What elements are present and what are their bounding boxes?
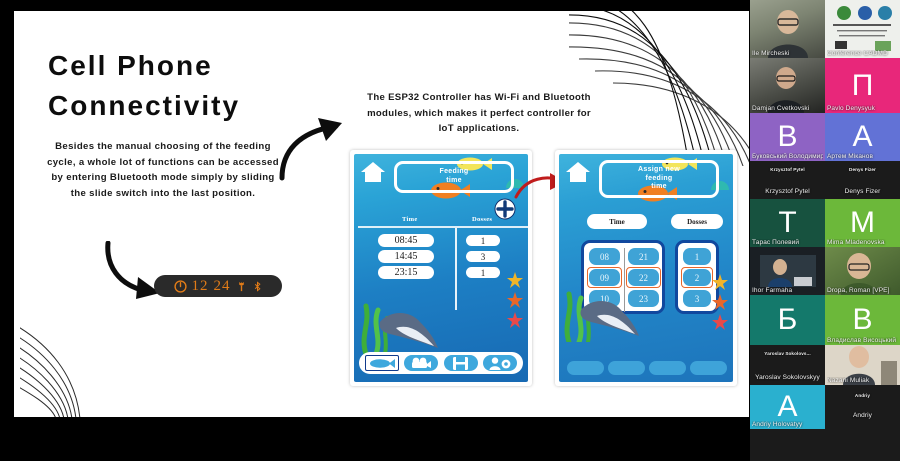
power-icon <box>174 280 187 293</box>
dose-entry-row[interactable]: 1 <box>466 267 500 278</box>
dose-option[interactable]: 3 <box>683 290 711 307</box>
participant-name: Andriy <box>825 412 900 419</box>
app-title-line-3: time <box>651 183 667 190</box>
participant-tile[interactable]: В Владислав Висоцький <box>825 295 900 345</box>
bottom-toolbar-placeholder <box>567 361 727 375</box>
app-title-bar: Assign new feeding time <box>599 160 719 198</box>
participant-tile[interactable]: Nazarii Muliak <box>825 345 900 385</box>
participant-row: Т Тарас Полевий M Mima Mladenovska <box>750 199 900 247</box>
app-screen-assign-time: Assign new feeding time Time Dosses 08 0… <box>559 154 733 382</box>
participant-name-overlay: Krzysztof Pytel <box>750 167 825 172</box>
participant-name: Yaroslav Sokolovskyy <box>750 374 825 381</box>
minute-option[interactable]: 21 <box>628 248 659 265</box>
participant-tile[interactable]: Ihor Farmaha <box>750 247 825 295</box>
participant-row: Yaroslav Sokolovs... Yaroslav Sokolovsky… <box>750 345 900 385</box>
app-title-line-1: Assign new <box>638 166 680 173</box>
user-settings-icon[interactable] <box>483 355 517 371</box>
participant-row: Б В Владислав Висоцький <box>750 295 900 345</box>
participant-tile[interactable]: Dropa, Roman [VPE] <box>825 247 900 295</box>
participant-tile[interactable]: Andriy Andriy <box>825 385 900 429</box>
participant-name: Krzysztof Pytel <box>750 188 825 195</box>
horizontal-divider <box>358 226 528 228</box>
app-title-line-2: time <box>446 177 462 184</box>
switch-label-12: 12 <box>192 278 209 295</box>
participant-tile[interactable]: А Артем Міканов <box>825 113 900 161</box>
time-entry-row[interactable]: 08:45 <box>378 234 434 247</box>
participant-name-overlay: Yaroslav Sokolovs... <box>750 351 825 356</box>
participant-name: Буковський Володимир <box>752 153 823 160</box>
participant-row: Damjan Cvetkovski П Pavlo Denysyuk <box>750 58 900 113</box>
toolbar-slot[interactable] <box>690 361 727 375</box>
slide-switch-graphic: 12 24 <box>154 275 282 297</box>
participant-row: A Andriy Holovatyy Andriy Andriy <box>750 385 900 429</box>
participant-tile[interactable]: A Andriy Holovatyy <box>750 385 825 429</box>
column-header-doses: Dosses <box>472 216 492 223</box>
tab-time[interactable]: Time <box>587 214 647 229</box>
participant-tile[interactable]: В Буковський Володимир <box>750 113 825 161</box>
participant-tile[interactable]: Б <box>750 295 825 345</box>
dose-selection-highlight <box>681 267 713 288</box>
participant-tile[interactable]: Yaroslav Sokolovs... Yaroslav Sokolovsky… <box>750 345 825 385</box>
home-icon[interactable] <box>360 160 386 184</box>
participant-name: Denys Fizer <box>825 188 900 195</box>
avatar-initial: Б <box>750 295 825 345</box>
app-title-bar: Feedingtime <box>394 161 514 193</box>
participant-tile[interactable]: M Mima Mladenovska <box>825 199 900 247</box>
participant-name: Ihor Farmaha <box>752 287 823 294</box>
starfish-icon <box>711 274 729 330</box>
phone-mockup-feeding-time: Feedingtime Time Dosses 08:45 14:45 23:1… <box>350 150 532 386</box>
participant-tile[interactable]: П Pavlo Denysyuk <box>825 58 900 113</box>
vertical-divider <box>455 228 457 310</box>
participant-tile[interactable]: Conference CADMD <box>825 0 900 58</box>
page-title: Cell Phone Connectivity <box>48 46 348 126</box>
participant-tile[interactable]: Damjan Cvetkovski <box>750 58 825 113</box>
participant-row: В Буковський Володимир А Артем Міканов <box>750 113 900 161</box>
participant-rail: Ile Mircheski Conference CADMD Damj <box>750 0 900 461</box>
participant-name: Andriy Holovatyy <box>752 421 823 428</box>
decorative-curves-icon <box>569 11 749 166</box>
hour-option[interactable]: 08 <box>589 248 620 265</box>
starfish-icon <box>506 272 524 328</box>
curved-arrow-up-right-icon <box>276 116 356 181</box>
fish-icon[interactable] <box>365 355 399 371</box>
participant-tile[interactable]: Denys Fizer Denys Fizer <box>825 161 900 199</box>
app-title-line-2: feeding <box>646 175 673 182</box>
participant-name: Nazarii Muliak <box>827 377 898 384</box>
page-title-line-1: Cell Phone <box>48 46 348 86</box>
participant-name-overlay: Andriy <box>825 393 900 398</box>
stingray-icon <box>577 296 641 338</box>
left-description-text: Besides the manual choosing of the feedi… <box>44 139 282 201</box>
switch-label-24: 24 <box>214 278 231 295</box>
participant-row: Ihor Farmaha Dropa, Roman [VPE] <box>750 247 900 295</box>
participant-name: Артем Міканов <box>827 153 898 160</box>
toolbar-slot[interactable] <box>608 361 645 375</box>
minute-selection-highlight <box>626 267 661 288</box>
participant-name: Тарас Полевий <box>752 239 823 246</box>
app-title-line-1: Feeding <box>440 168 469 175</box>
dose-entry-row[interactable]: 3 <box>466 251 500 262</box>
participant-name: Dropa, Roman [VPE] <box>827 287 898 294</box>
participant-name: Pavlo Denysyuk <box>827 105 898 112</box>
participant-name: Conference CADMD <box>827 50 898 57</box>
participant-name: Ile Mircheski <box>752 50 823 57</box>
participant-name: Владислав Висоцький <box>827 337 898 344</box>
dose-option[interactable]: 1 <box>683 248 711 265</box>
tab-doses[interactable]: Dosses <box>671 214 723 229</box>
participant-tile[interactable]: Krzysztof Pytel Krzysztof Pytel <box>750 161 825 199</box>
screen-share-slide: Cell Phone Connectivity Besides the manu… <box>14 11 749 417</box>
stingray-icon <box>376 308 440 350</box>
participant-row: Ile Mircheski Conference CADMD <box>750 0 900 58</box>
participant-row: Krzysztof Pytel Krzysztof Pytel Denys Fi… <box>750 161 900 199</box>
time-entry-row[interactable]: 14:45 <box>378 250 434 263</box>
participant-name: Damjan Cvetkovski <box>752 105 823 112</box>
wrench-icon <box>236 280 247 293</box>
participant-name: Mima Mladenovska <box>827 239 898 246</box>
video-camera-icon[interactable] <box>404 355 438 371</box>
home-icon[interactable] <box>565 160 591 184</box>
plus-circle-icon[interactable] <box>494 198 516 220</box>
bottom-toolbar <box>359 352 523 374</box>
bluetooth-icon <box>252 280 263 293</box>
decorative-fan-icon <box>20 319 125 417</box>
phone-mockup-assign-time: Assign new feeding time Time Dosses 08 0… <box>555 150 737 386</box>
save-floppy-icon[interactable] <box>444 355 478 371</box>
toolbar-slot[interactable] <box>649 361 686 375</box>
time-entry-row[interactable]: 23:15 <box>378 266 434 279</box>
app-screen-feeding-time: Feedingtime Time Dosses 08:45 14:45 23:1… <box>354 154 528 382</box>
participant-tile[interactable]: Т Тарас Полевий <box>750 199 825 247</box>
center-description-text: The ESP32 Controller has Wi-Fi and Bluet… <box>364 90 594 137</box>
dose-entry-row[interactable]: 1 <box>466 235 500 246</box>
toolbar-slot[interactable] <box>567 361 604 375</box>
participant-name-overlay: Denys Fizer <box>825 167 900 172</box>
column-header-time: Time <box>402 216 418 223</box>
participant-tile[interactable]: Ile Mircheski <box>750 0 825 58</box>
